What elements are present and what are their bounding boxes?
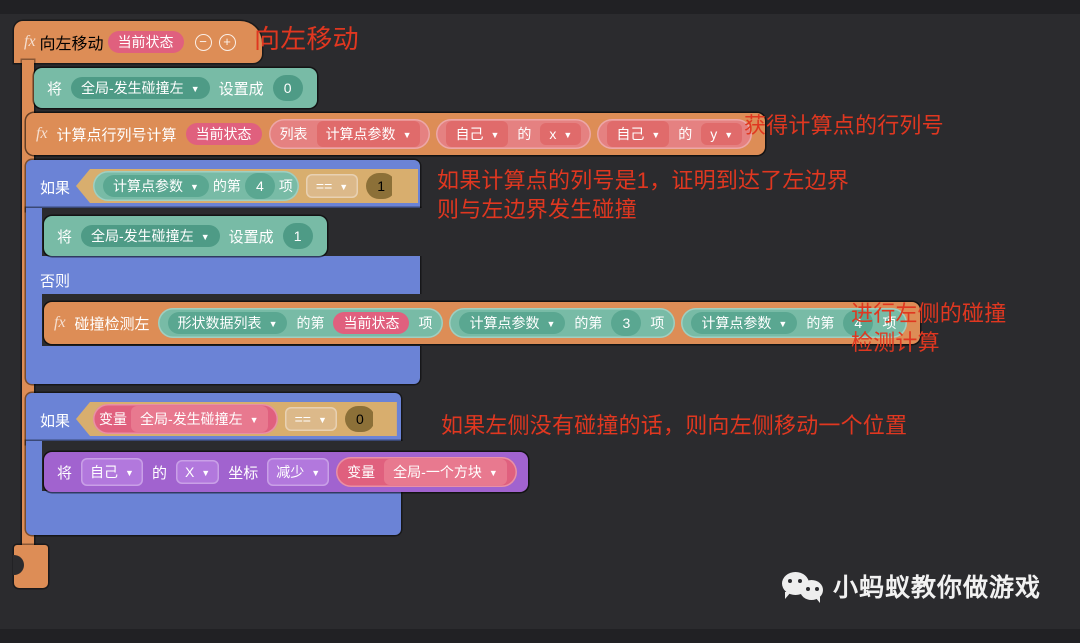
variable-dropdown-global-collide-left[interactable]: 全局-发生碰撞左 bbox=[81, 225, 220, 247]
list-dropdown-calc-point-params[interactable]: 计算点参数 bbox=[317, 121, 421, 147]
hat-block-foot bbox=[14, 545, 48, 588]
xiang-label-1: 项 bbox=[279, 176, 293, 196]
else-keyword-1: 否则 bbox=[40, 270, 70, 291]
arg1-list-item-reporter[interactable]: 形状数据列表 的第 当前状态 项 bbox=[158, 308, 444, 338]
de-label: 的 bbox=[147, 462, 172, 483]
xiang-label: 项 bbox=[645, 313, 669, 333]
watermark-text: 小蚂蚁教你做游戏 bbox=[833, 568, 1041, 604]
block-change-x-coordinate[interactable]: 将 自己 的 X 坐标 减少 变量 全局-一个方块 bbox=[44, 452, 528, 492]
coordinate-label: 坐标 bbox=[223, 462, 263, 483]
arg-list-reporter[interactable]: 列表 计算点参数 bbox=[269, 119, 431, 149]
de-di-label-1: 的第 bbox=[213, 176, 241, 196]
list-dropdown-calc-point-params-3[interactable]: 计算点参数 bbox=[691, 312, 797, 334]
compare-value-input-2[interactable]: 0 bbox=[345, 406, 375, 432]
property-dropdown-y[interactable]: y bbox=[701, 123, 742, 145]
de-di-label: 的第 bbox=[291, 313, 329, 333]
set-verb: 将 bbox=[52, 226, 77, 247]
hat-block-param-current-state[interactable]: 当前状态 bbox=[108, 31, 184, 53]
plus-circle-icon[interactable]: + bbox=[219, 34, 236, 51]
operation-dropdown-decrease[interactable]: 减少 bbox=[267, 458, 329, 486]
hat-block-title: 向左移动 bbox=[40, 30, 104, 54]
target-dropdown-self[interactable]: 自己 bbox=[81, 458, 143, 486]
list-label: 列表 bbox=[275, 124, 313, 144]
annotation-title: 向左移动 bbox=[254, 22, 359, 56]
de-di-label: 的第 bbox=[801, 313, 839, 333]
if-keyword-1: 如果 bbox=[40, 177, 70, 198]
condition-hex-1[interactable]: 计算点参数 的第 4 项 == 1 bbox=[76, 169, 418, 203]
variable-reporter-global-one-block[interactable]: 变量 全局-一个方块 bbox=[336, 457, 517, 487]
index-current-state[interactable]: 当前状态 bbox=[333, 312, 409, 334]
function-name: 计算点行列号计算 bbox=[52, 124, 182, 145]
set-to-label: 设置成 bbox=[224, 226, 279, 247]
de-label-1: 的 bbox=[512, 124, 536, 144]
list-dropdown-calc-point-params-2[interactable]: 计算点参数 bbox=[459, 312, 565, 334]
bottom-edge-bar bbox=[0, 629, 1080, 643]
arg-self-x-reporter[interactable]: 自己 的 x bbox=[436, 119, 591, 149]
set-verb: 将 bbox=[52, 462, 77, 483]
fx-icon: fx bbox=[14, 33, 40, 51]
property-dropdown-x[interactable]: x bbox=[540, 123, 581, 145]
list-dropdown-calc-point-params-1[interactable]: 计算点参数 bbox=[103, 175, 209, 197]
annotation-if-left-boundary: 如果计算点的列号是1，证明到达了左边界 则与左边界发生碰撞 bbox=[437, 166, 849, 224]
annotation-collision-detect: 进行左侧的碰撞 检测计算 bbox=[851, 299, 1006, 357]
list-dropdown-shape-data-list[interactable]: 形状数据列表 bbox=[168, 312, 288, 334]
de-label-2: 的 bbox=[673, 124, 697, 144]
if-keyword-2: 如果 bbox=[40, 410, 70, 431]
condition-hex-2[interactable]: 变量 全局-发生碰撞左 == 0 bbox=[76, 402, 397, 436]
variable-dropdown-global-collide-left[interactable]: 全局-发生碰撞左 bbox=[71, 77, 210, 99]
hat-block-move-left[interactable]: fx 向左移动 当前状态 − + bbox=[14, 21, 262, 63]
arg-current-state[interactable]: 当前状态 bbox=[186, 123, 262, 145]
xiang-label: 项 bbox=[413, 313, 437, 333]
operator-dropdown-equals-1[interactable]: == bbox=[306, 174, 358, 198]
de-di-label: 的第 bbox=[569, 313, 607, 333]
canvas: fx 向左移动 当前状态 − + 将 全局-发生碰撞左 设置成 0 fx 计算点… bbox=[0, 0, 1080, 643]
block-set-global-collide-left-0[interactable]: 将 全局-发生碰撞左 设置成 0 bbox=[34, 68, 317, 108]
variable-dropdown-global-one-block[interactable]: 全局-一个方块 bbox=[384, 459, 507, 485]
block-collide-detect-left[interactable]: fx 碰撞检测左 形状数据列表 的第 当前状态 项 计算点参数 的第 3 项 计… bbox=[44, 302, 920, 344]
index-input-4[interactable]: 4 bbox=[245, 173, 275, 199]
arg2-list-item-reporter[interactable]: 计算点参数 的第 3 项 bbox=[449, 308, 675, 338]
set-verb: 将 bbox=[42, 78, 67, 99]
condition-hex-2-point bbox=[373, 402, 389, 436]
variable-label: 变量 bbox=[99, 409, 127, 429]
variable-dropdown-global-collide-left-2[interactable]: 全局-发生碰撞左 bbox=[131, 406, 268, 432]
set-to-label: 设置成 bbox=[214, 78, 269, 99]
block-calc-point-rowcol[interactable]: fx 计算点行列号计算 当前状态 列表 计算点参数 自己 的 x 自己 的 y bbox=[26, 113, 765, 155]
minus-circle-icon[interactable]: − bbox=[195, 34, 212, 51]
value-input-1[interactable]: 1 bbox=[283, 223, 313, 249]
block-set-global-collide-left-1[interactable]: 将 全局-发生碰撞左 设置成 1 bbox=[44, 216, 327, 256]
annotation-move-left: 如果左侧没有碰撞的话，则向左侧移动一个位置 bbox=[441, 411, 907, 440]
target-dropdown-self-2[interactable]: 自己 bbox=[607, 121, 669, 147]
target-dropdown-self-1[interactable]: 自己 bbox=[446, 121, 508, 147]
annotation-get-rowcol: 获得计算点的行列号 bbox=[744, 111, 944, 140]
top-edge-bar bbox=[0, 0, 1080, 14]
fx-icon: fx bbox=[44, 314, 70, 332]
condition-hex-1-point bbox=[392, 169, 408, 203]
variable-label: 变量 bbox=[342, 462, 380, 482]
list-item-reporter-1[interactable]: 计算点参数 的第 4 项 bbox=[93, 171, 299, 201]
watermark: 小蚂蚁教你做游戏 bbox=[782, 568, 1041, 604]
wechat-icon bbox=[782, 571, 826, 601]
index-input-3[interactable]: 3 bbox=[611, 310, 641, 336]
variable-reporter-global-collide-left[interactable]: 变量 全局-发生碰撞左 bbox=[93, 404, 278, 434]
axis-dropdown-x[interactable]: X bbox=[176, 460, 219, 484]
operator-dropdown-equals-2[interactable]: == bbox=[285, 407, 337, 431]
function-name: 碰撞检测左 bbox=[70, 313, 155, 334]
fx-icon: fx bbox=[26, 125, 52, 143]
arg-self-y-reporter[interactable]: 自己 的 y bbox=[597, 119, 752, 149]
value-input-0[interactable]: 0 bbox=[273, 75, 303, 101]
